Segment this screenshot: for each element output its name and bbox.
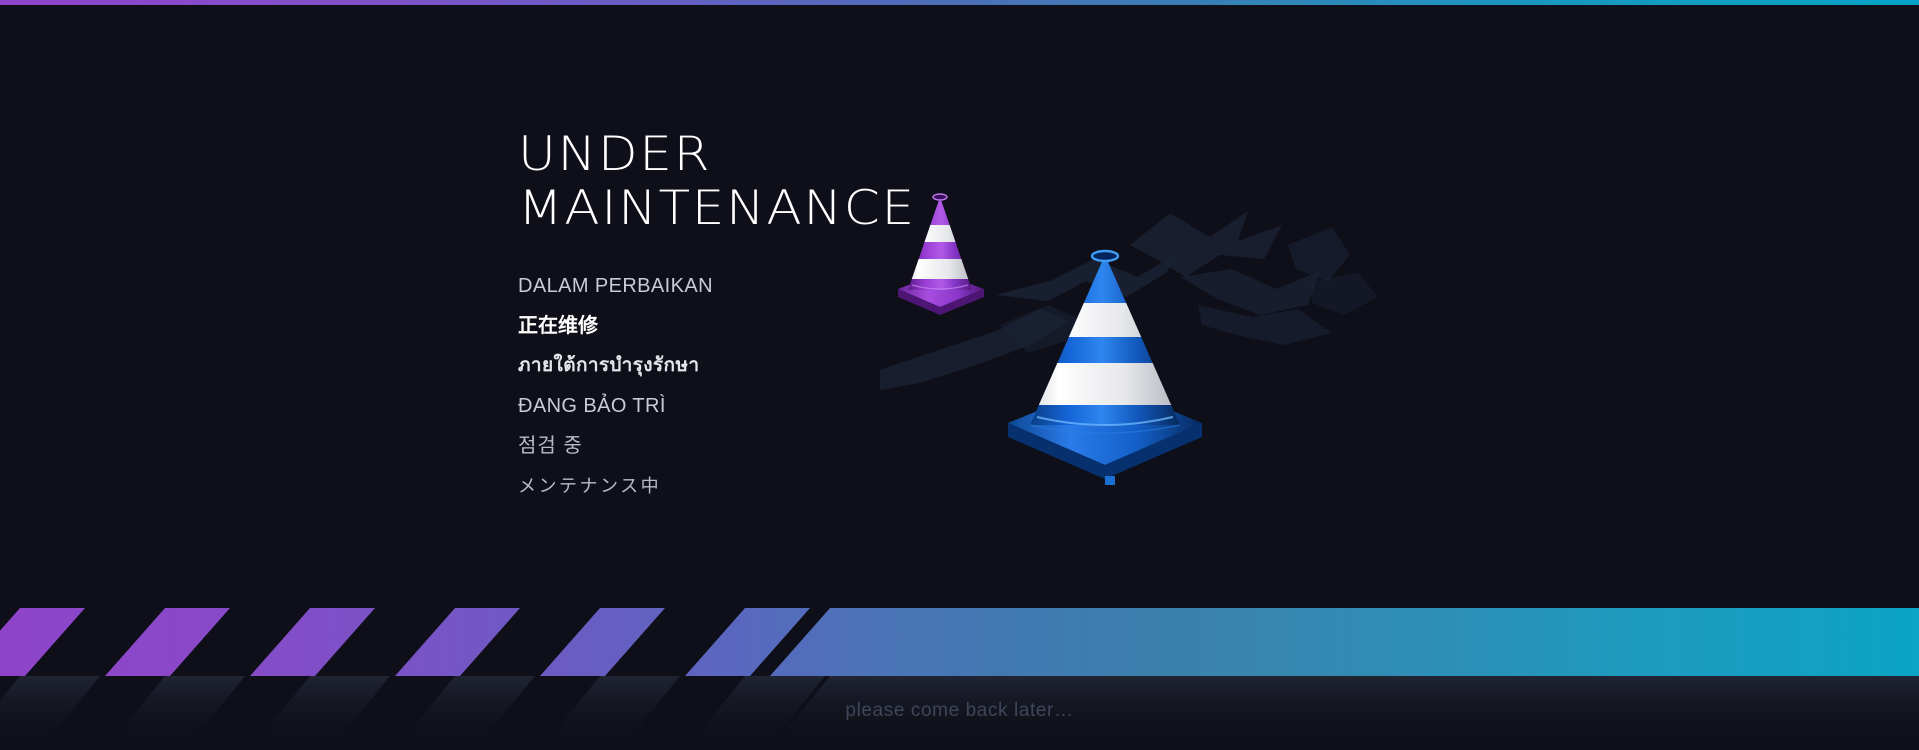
footer-note: please come back later…	[0, 700, 1919, 722]
top-accent-bar	[0, 0, 1919, 5]
hazard-banner	[0, 608, 1919, 676]
traffic-cone-purple	[896, 194, 984, 315]
maintenance-illustration	[880, 185, 1380, 515]
maintenance-page: UNDER MAINTENANCE DALAM PERBAIKAN 正在维修 ภ…	[0, 0, 1919, 750]
hazard-banner-stripe-mask	[0, 608, 1919, 676]
